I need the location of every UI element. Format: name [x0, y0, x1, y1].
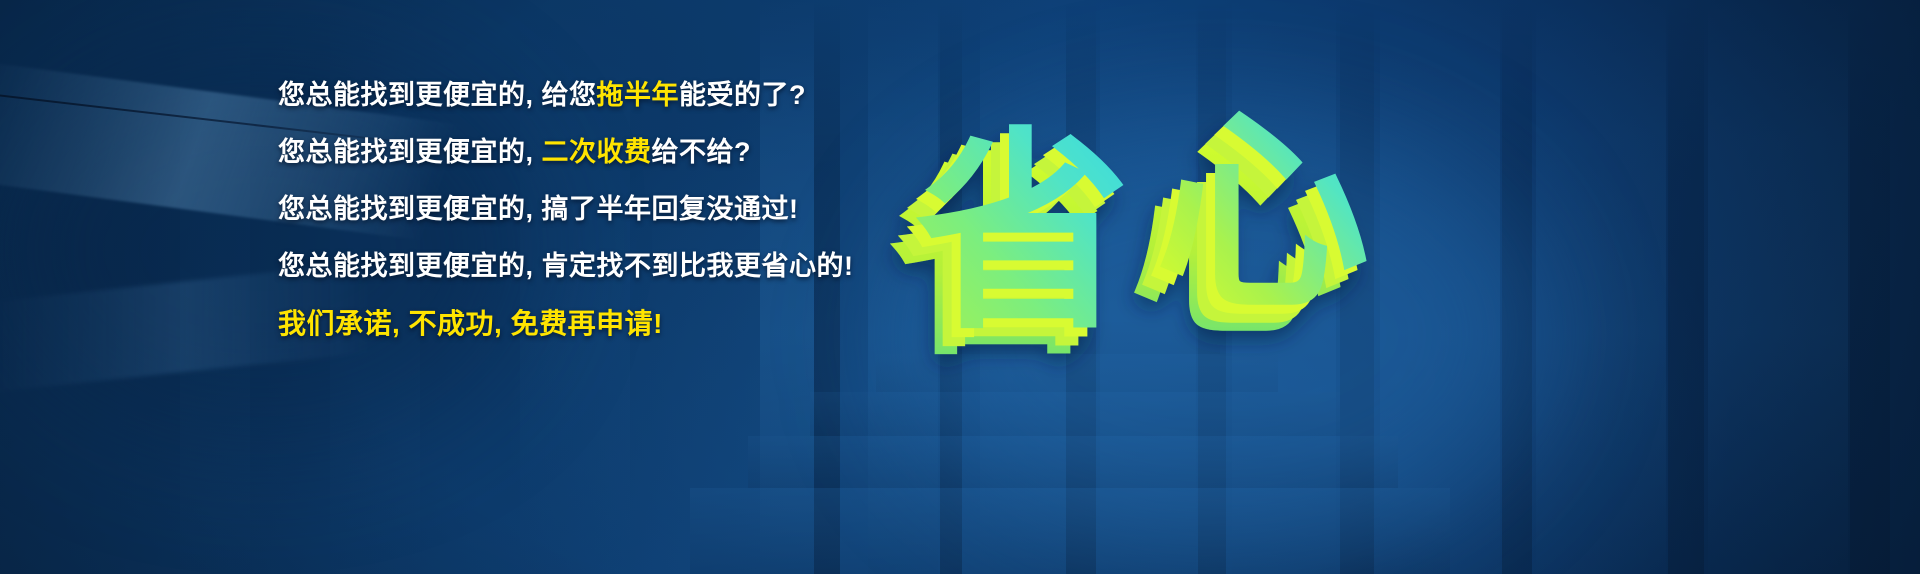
headline-line-4: 您总能找到更便宜的, 肯定找不到比我更省心的!	[278, 253, 898, 280]
line-2-segment-3: 给不给?	[652, 137, 752, 167]
wordmark-char-2-face: 心	[1155, 88, 1370, 339]
headline-line-5-promise: 我们承诺, 不成功, 免费再申请!	[278, 310, 898, 338]
sheng-xin-wordmark: 省 心 省 心 省 心 省 心	[905, 58, 1425, 388]
headline-line-3: 您总能找到更便宜的, 搞了半年回复没通过!	[278, 196, 898, 223]
line-2-segment-1: 您总能找到更便宜的,	[278, 137, 542, 167]
headline-line-1: 您总能找到更便宜的, 给您拖半年能受的了?	[278, 82, 898, 109]
promo-banner: 您总能找到更便宜的, 给您拖半年能受的了? 您总能找到更便宜的, 二次收费给不给…	[0, 0, 1920, 574]
headline-copy: 您总能找到更便宜的, 给您拖半年能受的了? 您总能找到更便宜的, 二次收费给不给…	[278, 82, 898, 338]
line-1-segment-1: 您总能找到更便宜的, 给您	[278, 80, 597, 110]
line-1-highlight: 拖半年	[597, 80, 680, 110]
headline-line-2: 您总能找到更便宜的, 二次收费给不给?	[278, 139, 898, 166]
line-1-segment-3: 能受的了?	[679, 80, 806, 110]
line-2-highlight: 二次收费	[542, 137, 652, 167]
wordmark-svg: 省 心 省 心 省 心 省 心	[905, 58, 1425, 388]
wordmark-char-1-face: 省	[915, 108, 1130, 359]
